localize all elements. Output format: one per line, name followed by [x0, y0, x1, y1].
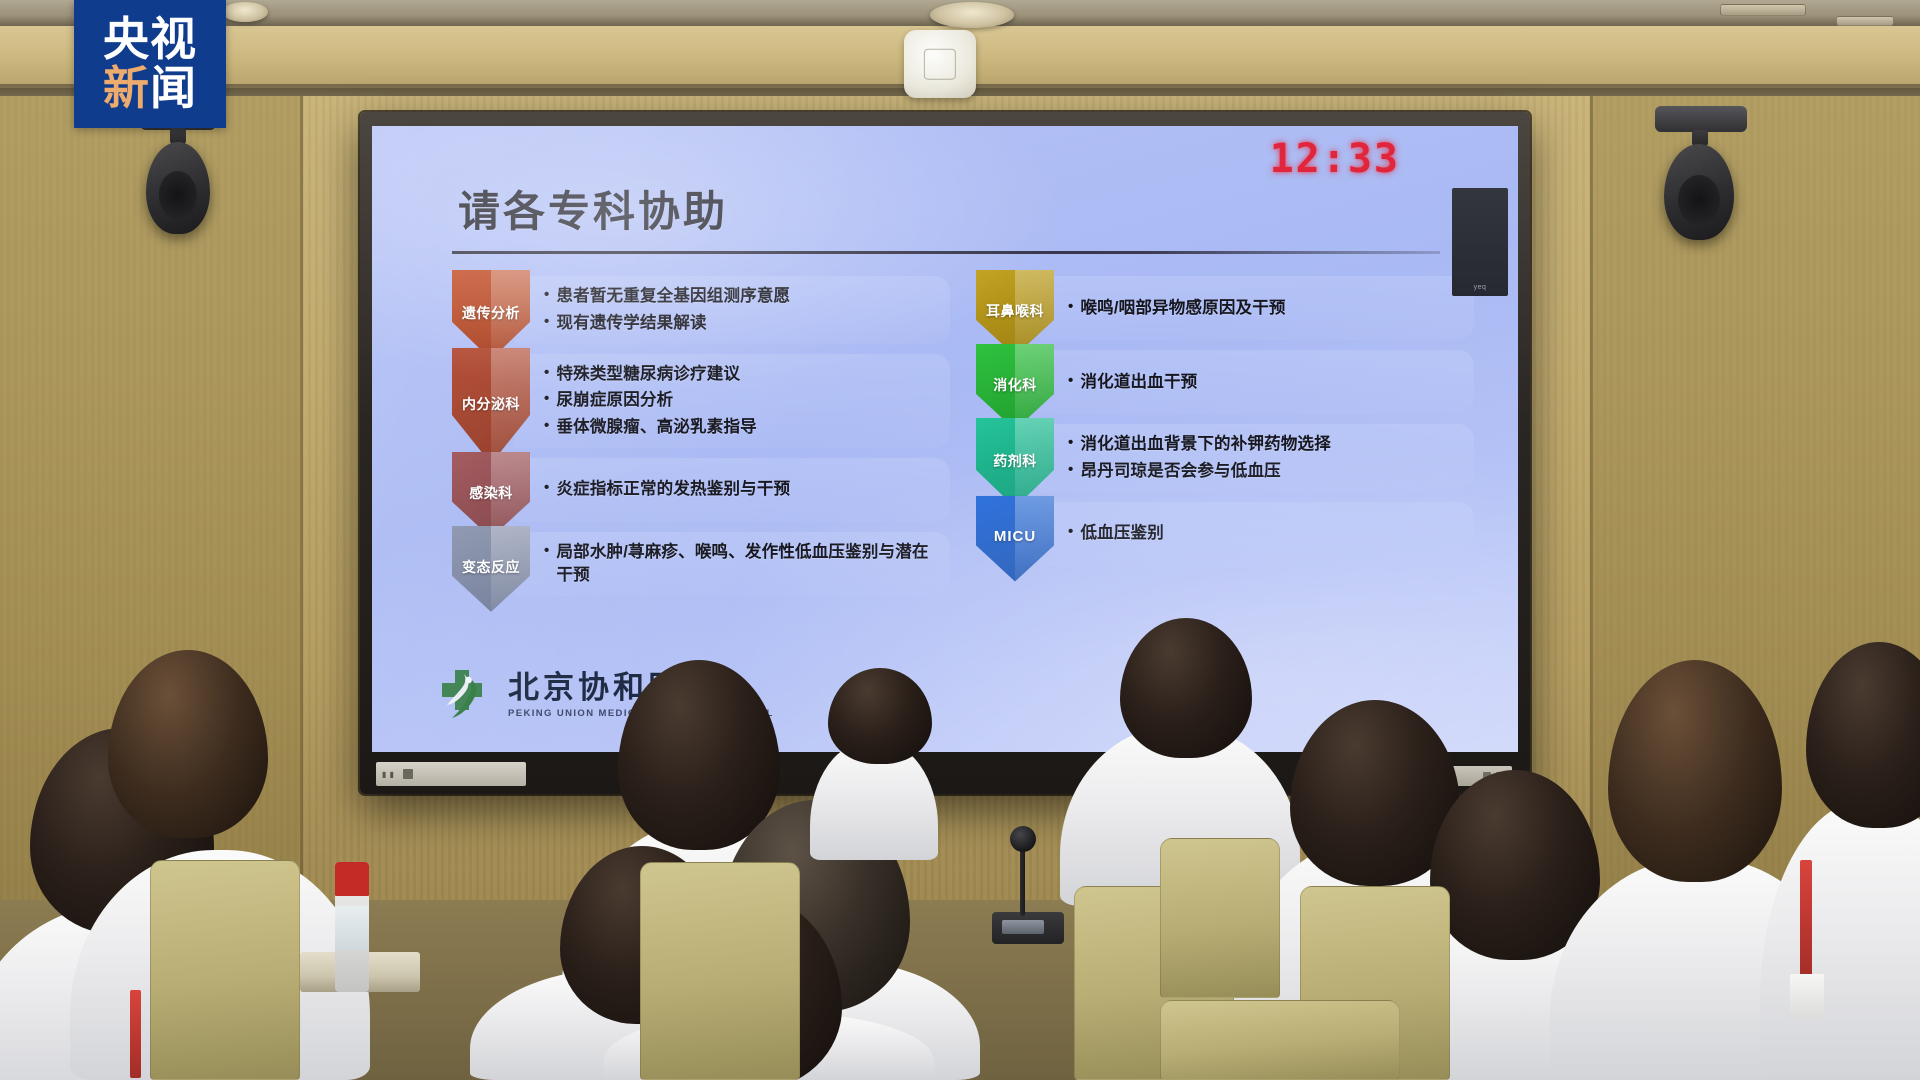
- bullet-text: 特殊类型糖尿病诊疗建议: [556, 363, 740, 386]
- bullet-text: 局部水肿/荨麻疹、喉鸣、发作性低血压鉴别与潜在干预: [556, 541, 934, 587]
- bullet-text: 炎症指标正常的发热鉴别与干预: [556, 478, 790, 501]
- bullet-text: 尿崩症原因分析: [556, 389, 673, 412]
- bullet-dot-icon: •: [1068, 460, 1073, 480]
- department-name: 内分泌科: [462, 394, 520, 414]
- watermark-line-1: 央视: [103, 16, 197, 63]
- bullet-item: •尿崩症原因分析: [544, 389, 934, 412]
- ceiling-vent-corner: [1836, 16, 1894, 26]
- department-name: MICU: [994, 528, 1036, 545]
- cctv-news-watermark: 央视 新 闻: [74, 0, 226, 128]
- bullet-dot-icon: •: [544, 285, 549, 305]
- speaker-right: [1664, 144, 1734, 240]
- chair: [1160, 1000, 1400, 1080]
- department-row: 药剂科•消化道出血背景下的补钾药物选择•昂丹司琼是否会参与低血压: [976, 424, 1474, 492]
- department-bullets-card: •炎症指标正常的发热鉴别与干预: [514, 458, 950, 522]
- slide-column-left: 遗传分析•患者暂无重复全基因组测序意愿•现有遗传学结果解读内分泌科•特殊类型糖尿…: [452, 276, 950, 596]
- department-name: 耳鼻喉科: [986, 301, 1044, 321]
- department-chevron-icon: 感染科: [452, 452, 530, 538]
- watermark-line-2: 新 闻: [103, 65, 197, 112]
- microphone-head: [1010, 826, 1036, 852]
- microphone-stem: [1020, 846, 1025, 916]
- bullet-item: •消化道出血背景下的补钾药物选择: [1068, 433, 1458, 456]
- department-bullets-card: •患者暂无重复全基因组测序意愿•现有遗传学结果解读: [514, 276, 950, 344]
- lanyard: [130, 990, 141, 1078]
- bullet-dot-icon: •: [544, 389, 549, 409]
- department-chevron-icon: MICU: [976, 496, 1054, 582]
- conference-room-scene: 12:33 yeq 请各专科协助 遗传分析•患者暂无重复全基因组测序意愿•现有遗…: [0, 0, 1920, 1080]
- department-chevron-icon: 药剂科: [976, 418, 1054, 508]
- department-name: 药剂科: [993, 451, 1037, 471]
- bullet-text: 低血压鉴别: [1080, 522, 1164, 545]
- bottle-label: [335, 906, 369, 950]
- water-bottle: [335, 862, 369, 992]
- bullet-item: •低血压鉴别: [1068, 522, 1458, 545]
- department-name: 遗传分析: [462, 303, 520, 323]
- chair: [640, 862, 800, 1080]
- bullet-item: •喉鸣/咽部异物感原因及干预: [1068, 297, 1458, 320]
- bullet-item: •炎症指标正常的发热鉴别与干预: [544, 478, 934, 501]
- department-row: 变态反应•局部水肿/荨麻疹、喉鸣、发作性低血压鉴别与潜在干预: [452, 532, 950, 596]
- id-badge: [1790, 974, 1824, 1018]
- bullet-item: •垂体微腺瘤、高泌乳素指导: [544, 416, 934, 439]
- department-chevron-icon: 变态反应: [452, 526, 530, 612]
- department-bullets-card: •消化道出血干预: [1038, 350, 1474, 414]
- bullet-text: 喉鸣/咽部异物感原因及干预: [1080, 297, 1285, 320]
- department-bullets-card: •低血压鉴别: [1038, 502, 1474, 566]
- bullet-item: •特殊类型糖尿病诊疗建议: [544, 363, 934, 386]
- department-row: 耳鼻喉科•喉鸣/咽部异物感原因及干预: [976, 276, 1474, 340]
- department-name: 感染科: [469, 483, 513, 503]
- ceiling-sensor-panel: [904, 30, 976, 98]
- ceiling-light-center: [930, 2, 1014, 28]
- bullet-item: •局部水肿/荨麻疹、喉鸣、发作性低血压鉴别与潜在干预: [544, 541, 934, 587]
- ceiling-light-left: [222, 2, 268, 22]
- department-bullets-card: •局部水肿/荨麻疹、喉鸣、发作性低血压鉴别与潜在干预: [514, 532, 950, 596]
- department-chevron-icon: 消化科: [976, 344, 1054, 430]
- department-row: MICU•低血压鉴别: [976, 502, 1474, 566]
- department-row: 感染科•炎症指标正常的发热鉴别与干预: [452, 458, 950, 522]
- screen-side-panel: yeq: [1452, 188, 1508, 296]
- bullet-item: •消化道出血干预: [1068, 371, 1458, 394]
- wall-seam-left: [300, 96, 303, 916]
- bullet-item: •现有遗传学结果解读: [544, 312, 934, 335]
- department-name: 变态反应: [462, 557, 520, 577]
- bullet-dot-icon: •: [1068, 522, 1073, 542]
- department-bullets-card: •喉鸣/咽部异物感原因及干预: [1038, 276, 1474, 340]
- chair: [1160, 838, 1280, 998]
- department-name: 消化科: [993, 375, 1037, 395]
- slide-title: 请各专科协助: [458, 178, 1484, 239]
- chair: [150, 860, 300, 1080]
- display-control-panel[interactable]: ▮ ▮: [376, 762, 526, 786]
- bullet-item: •患者暂无重复全基因组测序意愿: [544, 285, 934, 308]
- department-row: 内分泌科•特殊类型糖尿病诊疗建议•尿崩症原因分析•垂体微腺瘤、高泌乳素指导: [452, 354, 950, 448]
- watermark-char-xin: 新: [103, 65, 150, 112]
- wall-clock-readout: 12:33: [1270, 136, 1400, 182]
- bullet-text: 垂体微腺瘤、高泌乳素指导: [556, 416, 756, 439]
- hospital-logo-mark: [434, 664, 496, 726]
- bullet-text: 消化道出血背景下的补钾药物选择: [1080, 433, 1331, 456]
- bottle-cap: [335, 862, 369, 896]
- bullet-item: •昂丹司琼是否会参与低血压: [1068, 460, 1458, 483]
- display-control-panel-label: ▮ ▮: [382, 770, 395, 779]
- screen-side-panel-label: yeq: [1474, 284, 1487, 291]
- department-bullets-card: •特殊类型糖尿病诊疗建议•尿崩症原因分析•垂体微腺瘤、高泌乳素指导: [514, 354, 950, 448]
- slide-body: 遗传分析•患者暂无重复全基因组测序意愿•现有遗传学结果解读内分泌科•特殊类型糖尿…: [452, 276, 1474, 596]
- department-row: 消化科•消化道出血干预: [976, 350, 1474, 414]
- display-control-button-icon[interactable]: [403, 769, 413, 779]
- bullet-dot-icon: •: [544, 478, 549, 498]
- speaker-left: [146, 142, 210, 234]
- bullet-dot-icon: •: [544, 416, 549, 436]
- department-chevron-icon: 耳鼻喉科: [976, 270, 1054, 356]
- watermark-char-wen: 闻: [150, 65, 197, 112]
- microphone-display: [1002, 920, 1044, 934]
- title-underline: [452, 251, 1440, 254]
- bullet-text: 昂丹司琼是否会参与低血压: [1080, 460, 1280, 483]
- slide: 12:33 yeq 请各专科协助 遗传分析•患者暂无重复全基因组测序意愿•现有遗…: [372, 126, 1518, 752]
- bullet-text: 消化道出血干预: [1080, 371, 1197, 394]
- lanyard: [1800, 860, 1812, 980]
- slide-column-right: 耳鼻喉科•喉鸣/咽部异物感原因及干预消化科•消化道出血干预药剂科•消化道出血背景…: [976, 276, 1474, 596]
- department-chevron-icon: 遗传分析: [452, 270, 530, 360]
- bullet-text: 患者暂无重复全基因组测序意愿: [556, 285, 790, 308]
- department-bullets-card: •消化道出血背景下的补钾药物选择•昂丹司琼是否会参与低血压: [1038, 424, 1474, 492]
- display-screen: 12:33 yeq 请各专科协助 遗传分析•患者暂无重复全基因组测序意愿•现有遗…: [372, 126, 1518, 752]
- ceiling-vent-right: [1720, 4, 1806, 16]
- bullet-dot-icon: •: [1068, 433, 1073, 453]
- bullet-text: 现有遗传学结果解读: [556, 312, 706, 335]
- bullet-dot-icon: •: [544, 312, 549, 332]
- bullet-dot-icon: •: [544, 541, 549, 561]
- bullet-dot-icon: •: [1068, 371, 1073, 391]
- microphone-base[interactable]: [992, 912, 1064, 944]
- department-row: 遗传分析•患者暂无重复全基因组测序意愿•现有遗传学结果解读: [452, 276, 950, 344]
- speaker-mount-right: [1655, 106, 1747, 132]
- presentation-display: 12:33 yeq 请各专科协助 遗传分析•患者暂无重复全基因组测序意愿•现有遗…: [360, 112, 1530, 794]
- bullet-dot-icon: •: [1068, 297, 1073, 317]
- bullet-dot-icon: •: [544, 363, 549, 383]
